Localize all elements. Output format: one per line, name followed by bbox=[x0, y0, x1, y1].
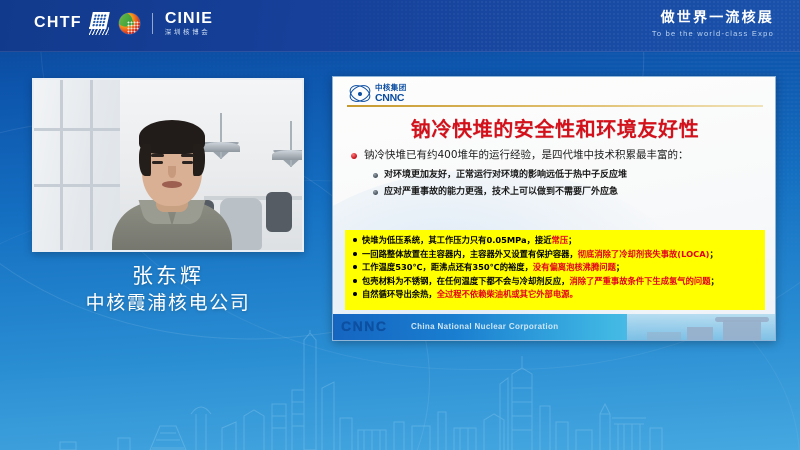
bullet-text: 钠冷快堆已有约400堆年的运行经验，是四代堆中技术积累最丰富的： bbox=[364, 149, 689, 163]
highlight-plain: ； bbox=[568, 235, 576, 245]
bullet-text: 应对严重事故的能力更强，技术上可以做到不需要厂外应急 bbox=[384, 187, 618, 199]
highlight-plain: ； bbox=[709, 249, 717, 259]
footer-cnnc-brand: CNNC bbox=[341, 318, 387, 334]
bullet-dot-icon bbox=[373, 190, 378, 195]
cnnc-atom-icon bbox=[349, 86, 371, 101]
video-room-background bbox=[34, 80, 302, 250]
slide-bullet-list: 钠冷快堆已有约400堆年的运行经验，是四代堆中技术积累最丰富的： 对环境更加友好… bbox=[347, 149, 763, 205]
highlight-line-text: 工作温度530℃，距沸点还有350℃的裕度，没有偏离泡核沸腾问题； bbox=[362, 262, 624, 272]
highlight-line-text: 一回路整体放置在主容器内，主容器外又设置有保护容器，彻底消除了冷却剂丧失事故(L… bbox=[362, 249, 718, 259]
bullet-text: 对环境更加友好，正常运行对环境的影响远低于热中子反应堆 bbox=[384, 170, 627, 182]
shenzhen-skyline-graphic bbox=[0, 330, 800, 450]
cnnc-wordmark: 中核集团 CNNC bbox=[375, 84, 407, 103]
slide-title: 钠冷快堆的安全性和环境友好性 bbox=[333, 113, 776, 142]
window-wall bbox=[34, 80, 120, 252]
pendant-lamp-icon-2 bbox=[272, 150, 304, 167]
cnnc-logo: 中核集团 CNNC bbox=[349, 84, 407, 103]
highlight-callout-box: 快堆为低压系统，其工作压力只有0.05MPa，接近常压；一回路整体放置在主容器内… bbox=[345, 230, 765, 310]
highlight-plain: ； bbox=[711, 276, 719, 286]
highlight-line-5: 自然循环导出余热，全过程不依赖柴油机或其它外部电源。 bbox=[353, 289, 757, 299]
logo-divider bbox=[152, 13, 153, 34]
cinie-wordmark: CINIE 深圳核博会 bbox=[165, 11, 213, 36]
highlight-line-text: 包壳材料为不锈钢，在任何温度下都不会与冷却剂反应，消除了严重事故条件下生成氢气的… bbox=[362, 276, 719, 286]
highlight-plain: 包壳材料为不锈钢，在任何温度下都不会与冷却剂反应， bbox=[362, 276, 569, 286]
highlight-plain: 快堆为低压系统，其工作压力只有0.05MPa，接近 bbox=[362, 235, 552, 245]
bullet-dot-icon bbox=[353, 265, 357, 269]
speaker-name: 张东辉 bbox=[32, 262, 304, 290]
bullet-dot-icon bbox=[373, 173, 378, 178]
cinie-logo-text: CINIE bbox=[165, 11, 213, 27]
speaker-video-feed[interactable] bbox=[32, 78, 304, 252]
bullet-level2-2: 应对严重事故的能力更强，技术上可以做到不需要厂外应急 bbox=[373, 187, 763, 199]
event-header-bar: CHTF CINIE 深圳核博会 做世界一流核展 To be the world… bbox=[0, 0, 800, 52]
slogan-english: To be the world-class Expo bbox=[652, 29, 774, 38]
footer-building-photo bbox=[627, 314, 776, 340]
highlight-plain: 一回路整体放置在主容器内，主容器外又设置有保护容器， bbox=[362, 249, 578, 259]
highlight-emphasis: 全过程不依赖柴油机或其它外部电源。 bbox=[437, 289, 578, 299]
cnnc-logo-english: CNNC bbox=[375, 93, 407, 104]
chtf-mark-icon bbox=[89, 12, 112, 35]
chtf-logo-text: CHTF bbox=[34, 14, 82, 32]
highlight-line-text: 快堆为低压系统，其工作压力只有0.05MPa，接近常压； bbox=[362, 235, 576, 245]
footer-corporation-name: China National Nuclear Corporation bbox=[411, 322, 558, 331]
highlight-line-2: 一回路整体放置在主容器内，主容器外又设置有保护容器，彻底消除了冷却剂丧失事故(L… bbox=[353, 249, 757, 259]
speaker-caption: 张东辉 中核霞浦核电公司 bbox=[32, 262, 304, 317]
slide-footer-banner: CNNC China National Nuclear Corporation bbox=[333, 314, 776, 340]
cinie-globe-icon bbox=[119, 13, 140, 34]
speaker-organization: 中核霞浦核电公司 bbox=[32, 290, 304, 317]
office-chair-2 bbox=[266, 192, 292, 232]
bullet-dot-icon bbox=[353, 279, 357, 283]
speaker-person bbox=[112, 126, 232, 250]
bullet-level1: 钠冷快堆已有约400堆年的运行经验，是四代堆中技术积累最丰富的： bbox=[347, 149, 763, 163]
highlight-plain: ； bbox=[616, 262, 624, 272]
highlight-emphasis: 消除了严重事故条件下生成氢气的问题 bbox=[569, 276, 710, 286]
event-slogan: 做世界一流核展 To be the world-class Expo bbox=[652, 10, 774, 38]
bullet-dot-icon bbox=[353, 292, 357, 296]
highlight-line-4: 包壳材料为不锈钢，在任何温度下都不会与冷却剂反应，消除了严重事故条件下生成氢气的… bbox=[353, 276, 757, 286]
highlight-emphasis: 常压 bbox=[552, 235, 569, 245]
bullet-dot-icon bbox=[353, 252, 357, 256]
bullet-dot-icon bbox=[353, 238, 357, 242]
highlight-line-1: 快堆为低压系统，其工作压力只有0.05MPa，接近常压； bbox=[353, 235, 757, 245]
cnnc-logo-chinese: 中核集团 bbox=[375, 84, 407, 92]
highlight-plain: 自然循环导出余热， bbox=[362, 289, 437, 299]
broadcast-screen: CHTF CINIE 深圳核博会 做世界一流核展 To be the world… bbox=[0, 0, 800, 450]
highlight-plain: 工作温度530℃，距沸点还有350℃的裕度， bbox=[362, 262, 533, 272]
highlight-emphasis: 没有偏离泡核沸腾问题 bbox=[533, 262, 616, 272]
cinie-logo-subtitle: 深圳核博会 bbox=[165, 29, 213, 36]
slogan-chinese: 做世界一流核展 bbox=[652, 10, 774, 26]
bullet-level2: 对环境更加友好，正常运行对环境的影响远低于热中子反应堆 bbox=[373, 170, 763, 182]
slide-header-rule bbox=[347, 105, 763, 107]
highlight-line-3: 工作温度530℃，距沸点还有350℃的裕度，没有偏离泡核沸腾问题； bbox=[353, 262, 757, 272]
highlight-emphasis: 彻底消除了冷却剂丧失事故(LOCA) bbox=[578, 249, 710, 259]
presentation-slide[interactable]: 中核集团 CNNC 钠冷快堆的安全性和环境友好性 钠冷快堆已有约400堆年的运行… bbox=[332, 76, 776, 341]
bullet-dot-icon bbox=[351, 153, 357, 159]
highlight-line-text: 自然循环导出余热，全过程不依赖柴油机或其它外部电源。 bbox=[362, 289, 578, 299]
event-logos[interactable]: CHTF CINIE 深圳核博会 bbox=[34, 11, 213, 36]
